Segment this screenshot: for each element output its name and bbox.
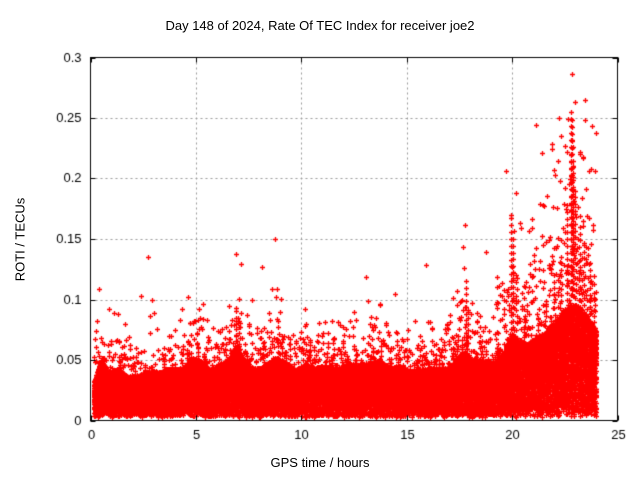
scatter-plot-canvas — [0, 0, 640, 480]
y-axis-label: ROTI / TECUs — [13, 160, 28, 320]
plot-page: Day 148 of 2024, Rate Of TEC Index for r… — [0, 0, 640, 480]
x-axis-label: GPS time / hours — [0, 455, 640, 470]
